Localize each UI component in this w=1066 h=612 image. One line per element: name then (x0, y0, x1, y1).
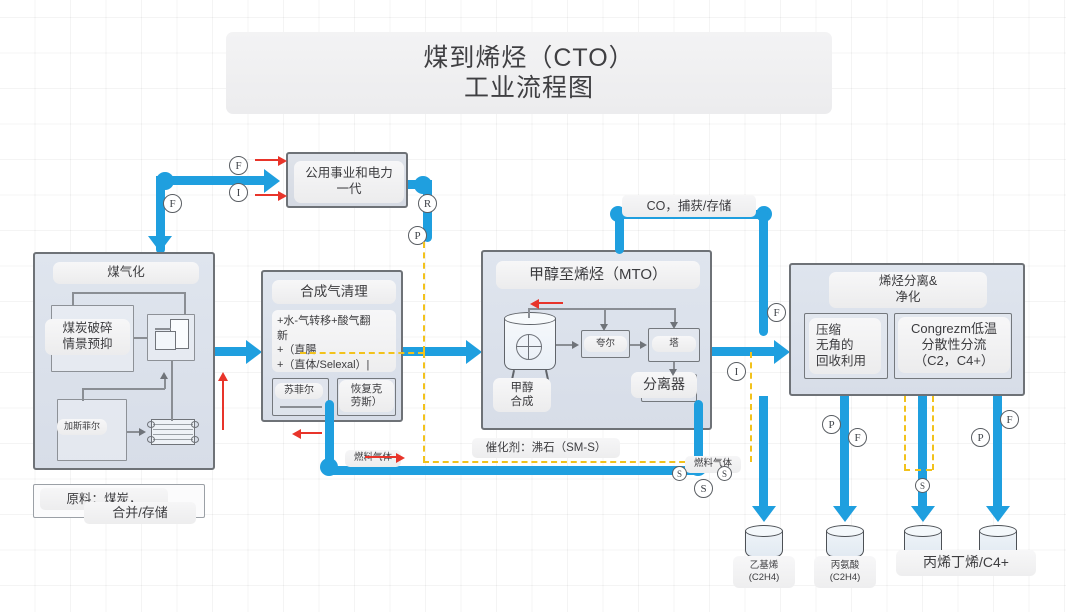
syngas-spec-line4: +（直体/Selexal）| (277, 358, 391, 373)
gasification-top-loop-h (72, 292, 185, 294)
syngas-spec-note: +水-气转移+酸气翻 新 +（直腸 +（直体/Selexal）| (272, 310, 396, 372)
compressor-line1: 压缩 (816, 323, 866, 339)
fuelgas-label-right: 燃料气体 (685, 456, 741, 473)
syngas-unit-right-label: 恢复克 劳斯） (339, 380, 394, 412)
pipe-mto-to-separation (712, 347, 780, 356)
tag-utilities-r[interactable]: R (418, 194, 437, 213)
hx-tube-3 (153, 434, 193, 435)
hx-tube-4 (153, 439, 193, 440)
hx-nozzle-2 (147, 436, 155, 443)
separation-block[interactable]: 烯烃分离& 净化 压缩 无角的 回收利用 Congrezm低温 分散性分流 （C… (789, 263, 1025, 396)
arrow-quench-tower (640, 341, 647, 349)
flow-diagram-canvas: 煤到烯烃（CTO） 工业流程图 公用事业和电力 一代 F I R P 煤气化 (0, 0, 1066, 612)
arrow-into-separation (774, 340, 790, 364)
tag-separation-f-left[interactable]: F (848, 428, 867, 447)
mto-header: 甲醇至烯烃（MTO） (496, 261, 700, 289)
co2-label: CO，捕获/存储 (622, 195, 756, 217)
heat-exchanger (147, 419, 199, 445)
crusher-label: 煤炭破碎 情景预抑 (45, 319, 130, 355)
product-2-name: 丙氨酸 (830, 560, 861, 572)
utility-bus-horizontal-sep (904, 469, 932, 471)
red-line-fuelgas (365, 456, 399, 458)
tag-separation-p-right[interactable]: P (971, 428, 990, 447)
arrow-tower-separator (669, 369, 677, 376)
mto-recycle-v-reactor (528, 308, 530, 318)
gasifier-downcomer (171, 361, 173, 421)
hx-nozzle-1 (147, 421, 155, 428)
tag-separation-f-right[interactable]: F (1000, 410, 1019, 429)
tag-utilities-i[interactable]: I (229, 183, 248, 202)
arrow-into-mto (466, 340, 482, 364)
product-label-2: 丙氨酸 (C2H4) (814, 556, 876, 588)
red-arrow-syngas-recycle (218, 372, 228, 381)
cryo-line1: Congrezm低温 (911, 321, 997, 337)
gasifier-vessel-box (147, 314, 195, 361)
arrow-product-3 (911, 506, 935, 522)
product-label-1: 乙基烯 (C2H4) (733, 556, 795, 588)
gasification-return-v2 (164, 378, 166, 389)
separation-header-line2: 净化 (879, 290, 937, 306)
red-arrow-fuelgas (396, 453, 405, 463)
reactor-top (504, 312, 556, 325)
page-title-line1: 煤到烯烃（CTO） (423, 43, 634, 74)
cryo-label: Congrezm低温 分散性分流 （C2，C4+） (898, 317, 1010, 373)
syngas-unit-left-base (280, 406, 322, 408)
gasification-return-h (82, 388, 165, 390)
arrow-product-2 (833, 506, 857, 522)
arrow-into-syngas (246, 340, 262, 364)
pipe-fuelgas-header (325, 466, 700, 475)
pipe-product-3 (918, 396, 927, 512)
utility-bus-horizontal-left (300, 352, 424, 354)
syngas-spec-line1: +水-气转移+酸气翻 (277, 314, 391, 329)
red-arrow-utilities-i (278, 191, 287, 201)
gasifier-inlet-line (155, 328, 171, 330)
pipe-product-2 (840, 396, 849, 512)
product-2-formula: (C2H4) (830, 572, 861, 584)
utility-bus-vertical-left (423, 242, 425, 352)
separation-header-line1: 烯烃分离& (879, 274, 937, 290)
utility-bus-horizontal-lower (423, 461, 695, 463)
product-tank-2[interactable] (826, 525, 864, 559)
product-1-name: 乙基烯 (749, 560, 780, 572)
product-tank-3-lid (904, 525, 942, 537)
syngas-unit-left-label: 苏菲尔 (275, 383, 323, 399)
utilities-label-line2: 一代 (305, 182, 393, 198)
crusher-label-line2: 情景预抑 (62, 337, 112, 353)
methanol-synthesis-label: 甲醇 合成 (493, 378, 551, 412)
gasification-block[interactable]: 煤气化 (33, 252, 215, 470)
utilities-block[interactable]: 公用事业和电力 一代 (286, 152, 408, 208)
pipe-co2-downcomer (759, 210, 768, 336)
gasification-top-loop-v1 (72, 292, 74, 306)
arrow-into-gasification (148, 236, 172, 252)
syngas-unit-right-line2: 劳斯） (351, 396, 383, 409)
product-tank-4-lid (979, 525, 1017, 537)
utility-bus-vertical-sep-left (904, 396, 906, 470)
red-line-mto-recycle (535, 302, 563, 304)
tag-fuelgas-s1[interactable]: S (672, 466, 687, 481)
arrow-into-utilities (264, 169, 280, 193)
utilities-label-line1: 公用事业和电力 (305, 166, 393, 182)
red-line-syngas-recycle (222, 380, 224, 430)
catalyst-note: 催化剂：沸石（SM-S） (472, 438, 620, 458)
tower-label: 塔 (652, 336, 696, 352)
tag-separation-s-mid[interactable]: S (915, 478, 930, 493)
reactor-agitator-bar-v (528, 334, 529, 360)
syngas-cleanup-block[interactable]: 合成气清理 +水-气转移+酸气翻 新 +（直腸 +（直体/Selexal）| 苏… (261, 270, 403, 422)
tag-gasification-f[interactable]: F (163, 194, 182, 213)
pipe-elbow-utilities (156, 172, 174, 190)
arrow-mto-recycle-quench (600, 324, 608, 331)
hx-tube-2 (153, 429, 193, 430)
gasification-return-v1 (82, 388, 84, 401)
product-1-formula: (C2H4) (749, 572, 780, 584)
syngas-spec-line3: +（直腸 (277, 343, 391, 358)
arrow-gasification-return (160, 372, 168, 379)
heat-exchanger-shell (151, 419, 195, 445)
page-title-line2: 工业流程图 (464, 73, 594, 104)
hx-nozzle-3 (191, 421, 199, 428)
arrow-mto-recycle-tower (670, 322, 678, 329)
arrow-product-4 (986, 506, 1010, 522)
syngas-spec-line2: 新 (277, 329, 391, 344)
tag-utilities-f[interactable]: F (229, 156, 248, 175)
utility-bus-vertical-mid (750, 352, 752, 462)
product-tank-1-lid (745, 525, 783, 537)
cryo-line3: （C2，C4+） (911, 353, 997, 369)
crusher-label-line1: 煤炭破碎 (62, 321, 112, 337)
pipe-elbow-utilities-out (414, 176, 432, 194)
tag-fuelgas-s3[interactable]: S (694, 479, 713, 498)
pipe-product-1 (759, 396, 768, 512)
cryo-line2: 分散性分流 (911, 337, 997, 353)
arrow-reactor-quench (572, 341, 579, 349)
page-title: 煤到烯烃（CTO） 工业流程图 (226, 32, 832, 114)
quench-label: 夸尔 (584, 336, 627, 352)
fuelgas-label-left: 燃料气体 (345, 450, 401, 467)
red-arrow-utilities-f (278, 156, 287, 166)
syngas-unit-right-line1: 恢复克 (351, 383, 383, 396)
arrow-product-1 (752, 506, 776, 522)
tag-separation-i[interactable]: I (727, 362, 746, 381)
gasification-header: 煤气化 (53, 262, 199, 284)
utilities-label: 公用事业和电力 一代 (294, 161, 404, 203)
gasification-top-loop-v2 (184, 292, 186, 315)
compressor-line2: 无角的 (816, 338, 866, 354)
pipe-elbow-fuelgas-left (320, 458, 338, 476)
mto-recycle-header (528, 308, 675, 310)
link-crusher-gasifier (134, 337, 147, 339)
compressor-label: 压缩 无角的 回收利用 (809, 318, 881, 374)
mto-block[interactable]: 甲醇至烯烃（MTO） 夸尔 塔 分离器 (481, 250, 712, 430)
red-arrow-syngas-bottom (292, 429, 301, 439)
tag-co2-f[interactable]: F (767, 303, 786, 322)
hx-tube-1 (153, 424, 193, 425)
tag-fuelgas-s2[interactable]: S (717, 466, 732, 481)
product-tank-1[interactable] (745, 525, 783, 559)
product-label-3: 丙烯丁烯/C4+ (896, 550, 1036, 576)
compressor-line3: 回收利用 (816, 354, 866, 370)
tag-separation-p-left[interactable]: P (822, 415, 841, 434)
methanol-reactor (504, 312, 556, 376)
gasifier-label: 加斯菲尔 (57, 419, 107, 435)
methanol-synthesis-line2: 合成 (511, 395, 534, 409)
separator-label: 分离器 (631, 372, 697, 398)
utility-bus-vertical-lower (423, 352, 425, 462)
methanol-synthesis-line1: 甲醇 (511, 381, 534, 395)
feedstock-label-line2: 合并/存储 (84, 502, 196, 524)
red-arrow-mto-recycle (530, 299, 539, 309)
syngas-header: 合成气清理 (272, 280, 396, 304)
product-tank-2-lid (826, 525, 864, 537)
gasifier-tube-b (155, 331, 176, 350)
utility-bus-vertical-sep-right (932, 396, 934, 470)
hx-nozzle-4 (191, 436, 199, 443)
arrow-quench-hx (139, 428, 146, 436)
separation-header: 烯烃分离& 净化 (829, 272, 987, 308)
